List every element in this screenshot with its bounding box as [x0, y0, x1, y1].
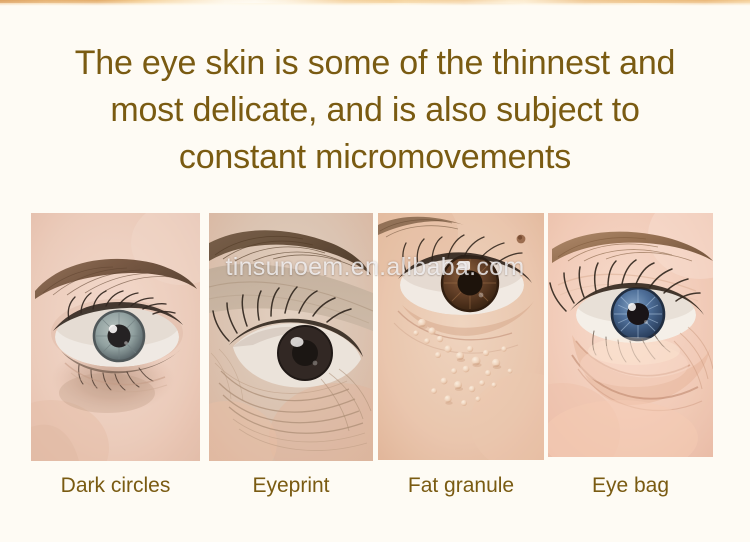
caption-eyeprint: Eyeprint [209, 472, 373, 500]
caption-dark-circles: Dark circles [31, 472, 200, 500]
fat-granule-photo [378, 213, 544, 460]
caption-eye-bag: Eye bag [548, 472, 713, 500]
gallery-panel-eye-bag[interactable] [548, 213, 713, 457]
gallery-panel-fat-granule[interactable] [378, 213, 544, 460]
top-gold-gradient-strip [0, 0, 750, 6]
dark-circles-photo [31, 213, 200, 461]
eyeprint-photo [209, 213, 373, 461]
gallery-panel-eyeprint[interactable] [209, 213, 373, 461]
gallery-caption-row: Dark circles Eyeprint Fat granule Eye ba… [31, 472, 713, 502]
eye-condition-gallery [31, 213, 713, 463]
promo-banner: The eye skin is some of the thinnest and… [0, 0, 750, 542]
page-title: The eye skin is some of the thinnest and… [0, 40, 750, 181]
caption-fat-granule: Fat granule [378, 472, 544, 500]
gallery-panel-dark-circles[interactable] [31, 213, 200, 461]
eye-bag-photo [548, 213, 713, 457]
